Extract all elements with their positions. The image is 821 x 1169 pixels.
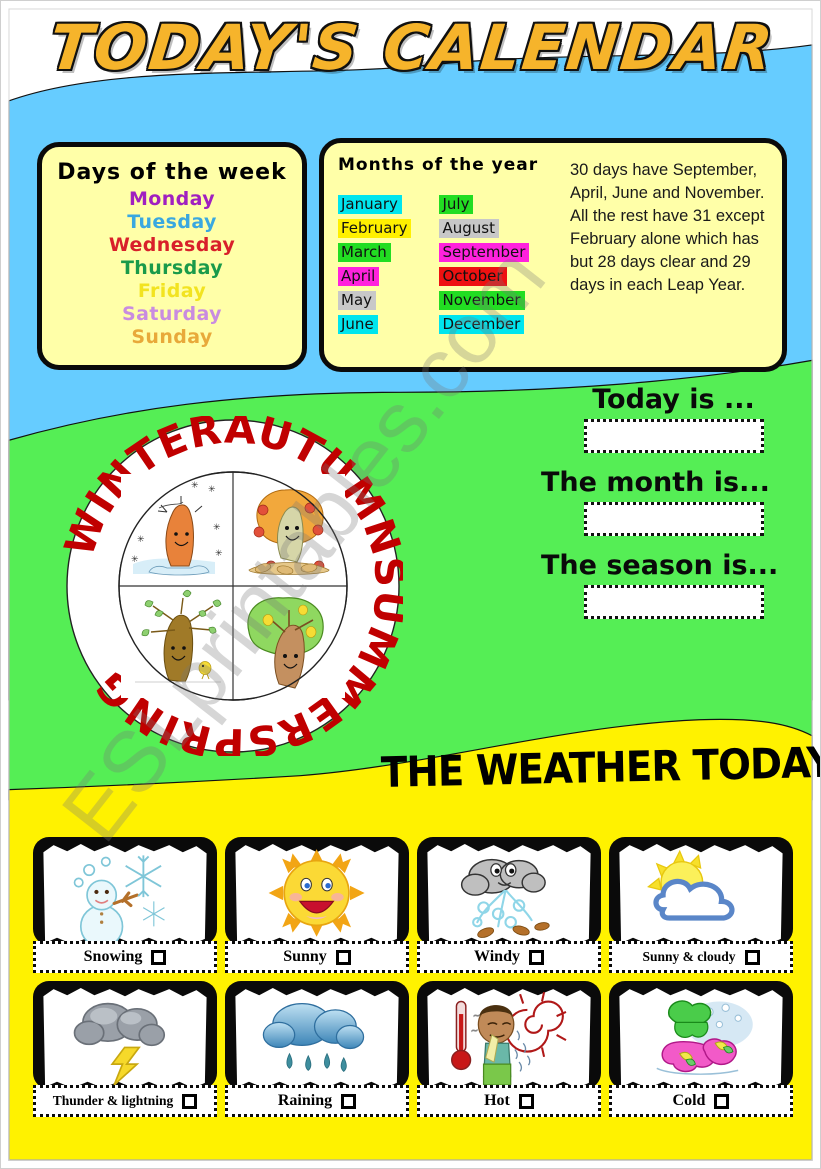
weather-checkbox[interactable] bbox=[341, 1094, 356, 1109]
svg-text:~: ~ bbox=[471, 1025, 478, 1035]
weather-card[interactable]: Raining bbox=[225, 981, 409, 1117]
days-list: MondayTuesdayWednesdayThursdayFridaySatu… bbox=[42, 188, 302, 349]
weather-card-frame bbox=[417, 837, 601, 945]
month-item: February bbox=[338, 219, 411, 238]
month-is-label: The month is... bbox=[541, 467, 806, 498]
worksheet-page: TODAY'S CALENDAR Days of the week Monday… bbox=[0, 0, 821, 1169]
month-item: July bbox=[439, 195, 473, 214]
day-item: Wednesday bbox=[42, 234, 302, 257]
svg-text:~: ~ bbox=[474, 1010, 481, 1020]
day-item: Thursday bbox=[42, 257, 302, 280]
svg-text:✳: ✳ bbox=[191, 481, 199, 491]
svg-text:✳: ✳ bbox=[213, 523, 221, 533]
season-is-input[interactable] bbox=[584, 585, 764, 619]
days-in-month-rhyme: 30 days have September, April, June and … bbox=[570, 159, 770, 297]
weather-checkbox[interactable] bbox=[151, 950, 166, 965]
today-is-label: Today is ... bbox=[541, 384, 806, 415]
weather-card-label[interactable]: Windy bbox=[417, 941, 601, 973]
hot-child-icon: ~~ bbox=[429, 989, 589, 1085]
weather-label-text: Thunder & lightning bbox=[53, 1093, 174, 1109]
weather-card-label[interactable]: Snowing bbox=[33, 941, 217, 973]
autumn-quadrant bbox=[233, 474, 345, 586]
month-item: November bbox=[439, 291, 524, 310]
weather-card-label[interactable]: Thunder & lightning bbox=[33, 1085, 217, 1117]
snowman-icon bbox=[45, 845, 205, 941]
winter-quadrant: ✳✳ ✳✳ ✳✳ bbox=[121, 474, 233, 586]
weather-card-label[interactable]: Sunny bbox=[225, 941, 409, 973]
day-item: Sunday bbox=[42, 326, 302, 349]
storm-icon bbox=[45, 989, 205, 1085]
svg-text:✳: ✳ bbox=[215, 549, 223, 559]
weather-card-label[interactable]: Sunny & cloudy bbox=[609, 941, 793, 973]
weather-card[interactable]: Cold bbox=[609, 981, 793, 1117]
day-item: Monday bbox=[42, 188, 302, 211]
weather-card-frame bbox=[609, 837, 793, 945]
weather-cards-grid: Snowing Sunny bbox=[33, 837, 793, 1117]
weather-banner: THE WEATHER TODAY IS... bbox=[381, 742, 787, 795]
month-item: August bbox=[439, 219, 499, 238]
month-is-input[interactable] bbox=[584, 502, 764, 536]
weather-card-frame: ~~ bbox=[417, 981, 601, 1089]
season-is-label: The season is... bbox=[541, 550, 806, 581]
weather-checkbox[interactable] bbox=[529, 950, 544, 965]
days-of-week-panel: Days of the week MondayTuesdayWednesdayT… bbox=[37, 142, 307, 370]
weather-label-text: Raining bbox=[278, 1092, 332, 1110]
weather-card-frame bbox=[33, 981, 217, 1089]
weather-label-text: Hot bbox=[484, 1092, 510, 1110]
weather-card-frame bbox=[225, 837, 409, 945]
svg-text:✳: ✳ bbox=[208, 485, 216, 495]
month-item: January bbox=[338, 195, 402, 214]
months-and-rhyme-panel: Months of the year JanuaryFebruaryMarchA… bbox=[319, 138, 787, 372]
weather-label-text: Sunny bbox=[283, 948, 327, 966]
month-item: March bbox=[338, 243, 391, 262]
day-item: Friday bbox=[42, 280, 302, 303]
weather-label-text: Sunny & cloudy bbox=[642, 949, 735, 965]
fill-in-section: Today is ... The month is... The season … bbox=[541, 384, 806, 633]
weather-checkbox[interactable] bbox=[745, 950, 760, 965]
spring-quadrant bbox=[121, 586, 233, 698]
wind-cloud-icon bbox=[429, 845, 589, 941]
weather-checkbox[interactable] bbox=[336, 950, 351, 965]
month-item: December bbox=[439, 315, 524, 334]
months-column-left: JanuaryFebruaryMarchAprilMayJune bbox=[338, 195, 411, 334]
weather-card-frame bbox=[33, 837, 217, 945]
weather-card-frame bbox=[225, 981, 409, 1089]
weather-checkbox[interactable] bbox=[714, 1094, 729, 1109]
weather-card-label[interactable]: Cold bbox=[609, 1085, 793, 1117]
weather-checkbox[interactable] bbox=[519, 1094, 534, 1109]
weather-card[interactable]: ~~ Hot bbox=[417, 981, 601, 1117]
months-columns: JanuaryFebruaryMarchAprilMayJune JulyAug… bbox=[338, 195, 529, 334]
weather-label-text: Cold bbox=[673, 1092, 706, 1110]
weather-card[interactable]: Sunny & cloudy bbox=[609, 837, 793, 973]
month-item: October bbox=[439, 267, 506, 286]
weather-card-label[interactable]: Hot bbox=[417, 1085, 601, 1117]
svg-text:✳: ✳ bbox=[131, 555, 139, 565]
month-item: May bbox=[338, 291, 376, 310]
seasons-wheel: WINTERAUTUMNSUMMERSPRING ✳✳ ✳✳ ✳✳ bbox=[63, 416, 403, 756]
weather-card[interactable]: Thunder & lightning bbox=[33, 981, 217, 1117]
rain-cloud-icon bbox=[237, 989, 397, 1085]
weather-label-text: Windy bbox=[474, 948, 520, 966]
cold-child-icon bbox=[621, 989, 781, 1085]
weather-card[interactable]: Sunny bbox=[225, 837, 409, 973]
day-item: Saturday bbox=[42, 303, 302, 326]
sun-cloud-icon bbox=[621, 845, 781, 941]
month-item: June bbox=[338, 315, 378, 334]
months-column-right: JulyAugustSeptemberOctoberNovemberDecemb… bbox=[439, 195, 529, 334]
sun-icon bbox=[237, 845, 397, 941]
days-panel-heading: Days of the week bbox=[42, 160, 302, 185]
summer-quadrant bbox=[233, 586, 345, 698]
weather-card-frame bbox=[609, 981, 793, 1089]
weather-label-text: Snowing bbox=[84, 948, 143, 966]
month-item: April bbox=[338, 267, 379, 286]
weather-card[interactable]: Snowing bbox=[33, 837, 217, 973]
today-is-input[interactable] bbox=[584, 419, 764, 453]
day-item: Tuesday bbox=[42, 211, 302, 234]
svg-text:✳: ✳ bbox=[137, 535, 145, 545]
weather-card[interactable]: Windy bbox=[417, 837, 601, 973]
weather-checkbox[interactable] bbox=[182, 1094, 197, 1109]
weather-card-label[interactable]: Raining bbox=[225, 1085, 409, 1117]
month-item: September bbox=[439, 243, 529, 262]
